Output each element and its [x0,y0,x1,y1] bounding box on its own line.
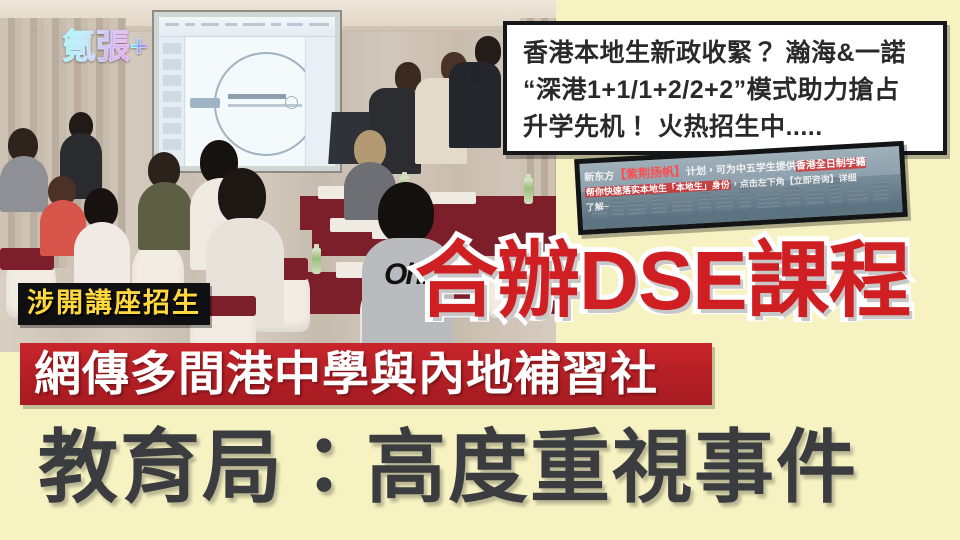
ad-program-name: 【紫荆扬帆】 [614,164,687,182]
speaker-right [462,36,501,148]
slide-title-text [228,94,286,99]
app-ribbon [159,17,335,37]
quote-screenshot-card: 香港本地生新政收緊？ 瀚海&一諾 “深港1+1/1+2/2+2”模式助力搶占 升… [503,21,947,155]
quote-line-1: 香港本地生新政收緊？ 瀚海&一諾 [523,35,929,72]
main-headline: 教育局：高度重視事件 [38,419,858,517]
quote-line-2: “深港1+1/1+2/2+2”模式助力搶占 [523,72,929,109]
ad-line1-prefix: 新东方 [584,171,615,184]
logo-main-text: 氪張 [62,27,130,67]
water-bottle [312,248,321,274]
ad-text-overlay: 新东方【紫荆扬帆】计划，可为中五学生提供香港全日制学籍 帮你快速落实本地生「本地… [579,146,902,230]
red-banner: 網傳多間港中學與內地補習社 [20,343,712,405]
news-thumbnail-card: Oh! 香港本地生新政收緊？ 瀚海&一諾 “深港1+1/1+2/2+2”模式助力… [0,0,960,540]
water-bottle [524,178,533,204]
logo-plus-icon: + [130,27,148,67]
slide-small-circle [285,96,298,109]
audience-member [138,152,192,250]
headline-red: 合辦DSE課程 [415,236,911,326]
quote-line-3: 升学先机！ 火热招生中..... [523,109,929,146]
slide-label-chip [190,98,220,108]
kicker-badge: 涉開講座招生 [18,283,210,325]
brand-logo: 氪張+ [62,27,184,71]
red-banner-text: 網傳多間港中學與內地補習社 [34,346,658,402]
audience-member [74,188,130,294]
